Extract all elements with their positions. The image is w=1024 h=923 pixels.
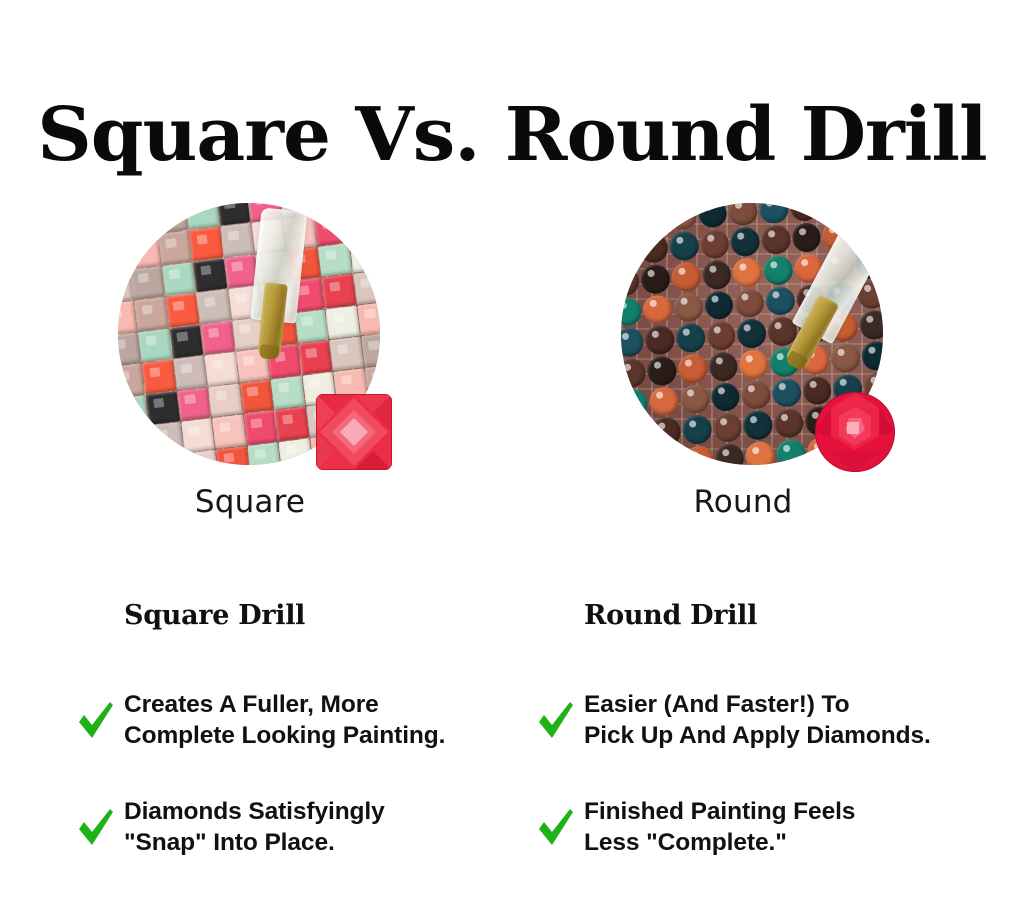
drill-cell [353,270,380,304]
round-gem [809,386,901,478]
drill-cell [138,329,172,363]
list-item: Easier (And Faster!) To Pick Up And Appl… [578,689,998,752]
drill-cell [643,295,674,326]
drill-cell [621,235,639,266]
drill-cell [346,208,380,242]
drill-cell [349,239,380,273]
drill-cell [737,319,768,350]
drill-cell [244,411,278,445]
drill-cell [673,292,704,323]
drill-cell [271,376,305,410]
drill-cell [682,415,713,446]
drill-cell [859,310,883,341]
drill-cell [169,325,203,359]
drill-cell [146,391,180,425]
bullet-text: Finished Painting Feels Less "Complete." [584,796,855,859]
drill-cell [702,260,733,291]
drill-cell [759,203,790,225]
comparison-columns: Square Drill Creates A Fuller, More Comp… [0,600,1024,900]
drill-cell [761,225,792,256]
list-item: Diamonds Satisfyingly "Snap" Into Place. [118,796,538,859]
drill-cell [623,450,654,465]
drill-cell [743,410,774,441]
drill-cell [185,450,219,465]
check-icon [536,698,576,742]
drill-cell [205,352,239,386]
drill-cell [789,203,820,223]
drill-cell [621,327,645,358]
drill-cell [653,447,684,465]
drill-cell [700,229,731,260]
drill-cell [154,203,188,234]
drill-cell [710,382,741,413]
drill-cell [621,388,649,419]
drill-cell [741,380,772,411]
drill-cell [314,212,348,246]
drill-cell [713,413,744,444]
drill-cell [150,422,184,456]
square-photo-cell [100,200,400,480]
drill-cell [193,258,227,292]
drill-cell [647,356,678,387]
drill-cell [201,321,235,355]
drill-cell [671,262,702,293]
drill-cell [621,266,641,297]
drill-cell [295,309,329,343]
drill-cell [678,354,709,385]
drill-cell [649,386,680,417]
page-title: Square Vs. Round Drill [0,98,1024,172]
bullet-text: Diamonds Satisfyingly "Snap" Into Place. [124,796,385,859]
drill-cell [636,203,667,233]
drill-cell [216,446,250,465]
drill-cell [730,227,761,258]
drill-cell [357,302,380,336]
drill-cell [763,255,794,286]
drill-cell [240,380,274,414]
drill-cell [745,441,776,465]
drill-cell [791,223,822,254]
drill-cell [127,235,161,269]
square-drill-column: Square Drill Creates A Fuller, More Comp… [118,600,538,902]
drill-cell [118,364,145,398]
drill-cell [330,337,364,371]
drill-cell [621,203,634,205]
drill-cell [621,205,636,236]
drill-cell [706,321,737,352]
square-drill-heading: Square Drill [124,600,538,631]
bullet-text: Creates A Fuller, More Complete Looking … [124,689,445,752]
check-icon [76,805,116,849]
round-photo-caption: Round [593,484,893,520]
drill-cell [881,203,883,216]
check-icon [76,698,116,742]
drill-cell [197,290,231,324]
round-drill-heading: Round Drill [584,600,998,631]
drill-cell [177,387,211,421]
drill-cell [162,262,196,296]
drill-cell [651,417,682,448]
round-drill-column: Round Drill Easier (And Faster!) To Pick… [578,600,998,902]
drill-cell [728,203,759,227]
drill-cell [621,297,643,328]
drill-cell [831,343,862,374]
list-item: Finished Painting Feels Less "Complete." [578,796,998,859]
drill-cell [680,384,711,415]
drill-cell [326,305,360,339]
drill-cell [361,333,380,367]
photo-comparison-row [0,200,1024,480]
drill-cell [638,233,669,264]
drill-cell [820,203,851,221]
drill-cell [212,415,246,449]
drill-cell [217,203,251,226]
drill-cell [166,293,200,327]
list-item: Creates A Fuller, More Complete Looking … [118,689,538,752]
drill-cell [776,439,807,465]
drill-cell [318,243,352,277]
drill-cell [181,419,215,453]
check-icon [536,805,576,849]
drill-cell [142,360,176,394]
drill-cell [715,443,746,465]
drill-cell [189,227,223,261]
drill-cell [118,395,149,429]
drill-cell [667,203,698,231]
drill-cell [220,223,254,257]
drill-cell [676,323,707,354]
drill-cell [208,383,242,417]
drill-cell [774,408,805,439]
drill-cell [118,332,141,366]
bullet-text: Easier (And Faster!) To Pick Up And Appl… [584,689,931,752]
drill-cell [861,341,883,372]
drill-cell [247,442,281,465]
drill-cell [134,297,168,331]
drill-cell [322,274,356,308]
drill-cell [739,349,770,380]
drill-cell [735,288,766,319]
drill-cell [704,290,735,321]
drill-cell [708,351,739,382]
drill-cell [669,231,700,262]
drill-cell [621,358,647,389]
drill-cell [698,203,729,229]
drill-cell [275,407,309,441]
drill-cell [641,264,672,295]
drill-cell [621,452,623,465]
drill-cell [279,438,313,465]
drill-cell [298,341,332,375]
square-photo-caption: Square [100,484,400,520]
drill-cell [645,325,676,356]
drill-cell [118,426,152,460]
drill-cell [130,266,164,300]
round-photo-cell [603,200,903,480]
drill-cell [123,203,157,237]
square-gem [310,388,398,478]
drill-cell [173,356,207,390]
drill-cell [772,378,803,409]
drill-cell [684,445,715,465]
drill-cell [851,203,882,218]
drill-cell [732,258,763,289]
drill-cell [765,286,796,317]
drill-cell [621,419,651,450]
drill-cell [158,231,192,265]
drill-cell [185,203,219,230]
